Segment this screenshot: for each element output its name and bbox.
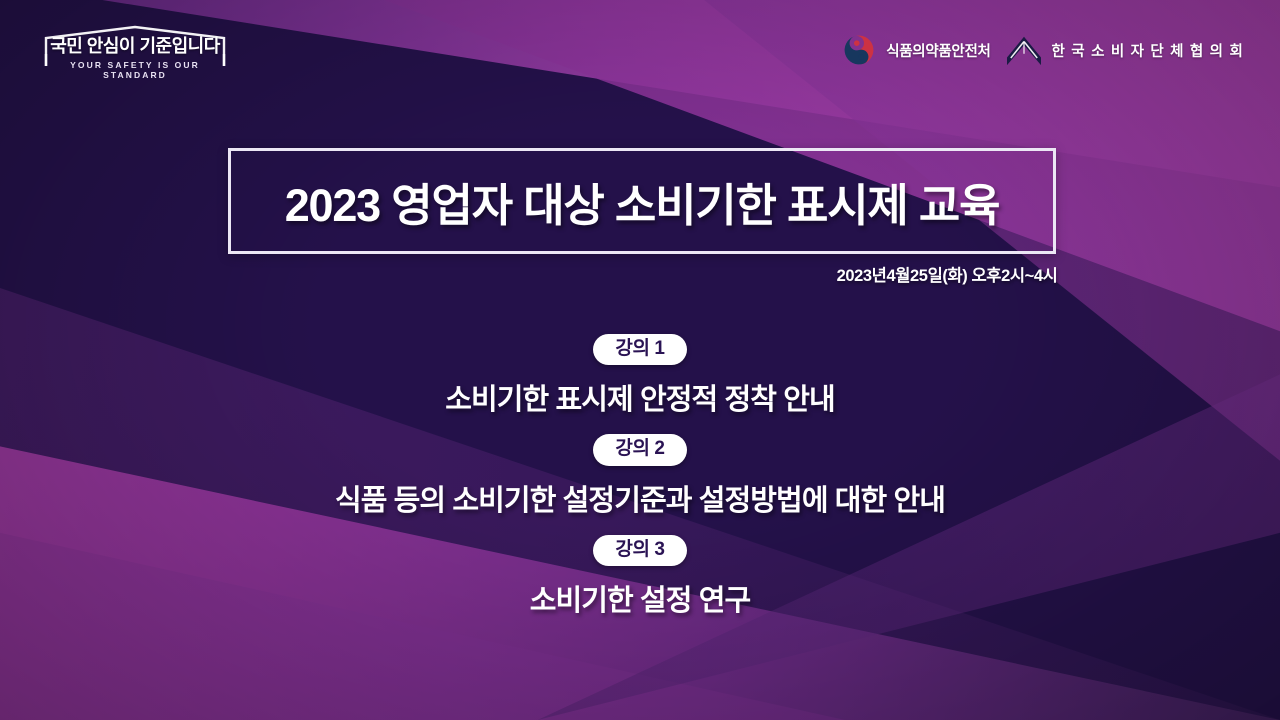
session-badge: 강의 3 [593, 535, 686, 566]
presentation-slide: 국민 안심이 기준입니다 YOUR SAFETY IS OUR STANDARD… [0, 0, 1280, 720]
event-date: 2023년4월25일(화) 오후2시~4시 [0, 262, 1280, 286]
organization-mfds-label: 식품의약품안전처 [886, 40, 990, 61]
brand-slogan-english: YOUR SAFETY IS OUR STANDARD [40, 60, 230, 80]
event-date-text: 2023년4월25일(화) 오후2시~4시 [837, 262, 1058, 286]
session-title: 식품 등의 소비기한 설정기준과 설정방법에 대한 안내 [335, 477, 945, 519]
title-frame: 2023 영업자 대상 소비기한 표시제 교육 [228, 148, 1056, 254]
session-title: 소비기한 설정 연구 [530, 577, 751, 619]
session-badge: 강의 2 [593, 434, 686, 465]
session-badge: 강의 1 [593, 334, 686, 365]
organization-logo-row: 식품의약품안전처 한 국 소 비 자 단 체 협 의 회 [841, 28, 1244, 72]
organization-kcoc-label: 한 국 소 비 자 단 체 협 의 회 [1052, 40, 1244, 61]
session-item: 강의 2 식품 등의 소비기한 설정기준과 설정방법에 대한 안내 [335, 434, 945, 518]
page-title: 2023 영업자 대상 소비기한 표시제 교육 [285, 169, 1000, 234]
brand-slogan-korean: 국민 안심이 기준입니다 [40, 32, 230, 58]
session-list: 강의 1 소비기한 표시제 안정적 정착 안내 강의 2 식품 등의 소비기한 … [0, 334, 1280, 619]
organization-kcoc: 한 국 소 비 자 단 체 협 의 회 [1005, 33, 1244, 67]
session-title: 소비기한 표시제 안정적 정착 안내 [445, 376, 835, 418]
session-item: 강의 3 소비기한 설정 연구 [530, 535, 751, 619]
brand-slogan-mark: 국민 안심이 기준입니다 YOUR SAFETY IS OUR STANDARD [40, 24, 230, 80]
korea-government-taegeuk-icon [841, 32, 877, 68]
session-item: 강의 1 소비기한 표시제 안정적 정착 안내 [445, 334, 835, 418]
chevron-up-icon [1005, 33, 1043, 67]
organization-mfds: 식품의약품안전처 [841, 32, 990, 68]
